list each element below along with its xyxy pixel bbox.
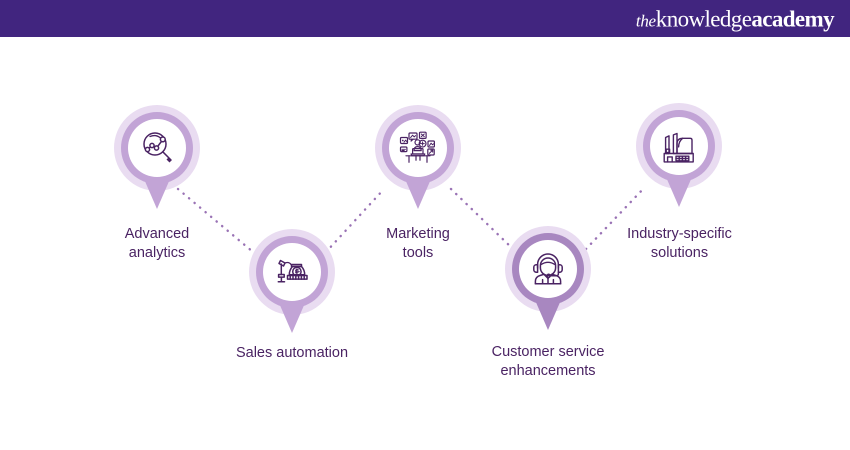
pin-inner — [389, 119, 447, 177]
factory-icon — [660, 127, 698, 165]
pin-inner — [263, 243, 321, 301]
pin-label-sales-automation: Sales automation — [212, 344, 372, 363]
brand-logo-the: the — [636, 11, 656, 30]
pin-label-marketing-tools: Marketing tools — [358, 225, 478, 263]
pin-customer-service-enhancements[interactable] — [505, 226, 591, 330]
header-bar: theknowledgeacademy — [0, 0, 850, 37]
pin-label-customer-service-enhancements: Customer service enhancements — [468, 343, 628, 381]
pin-inner — [128, 119, 186, 177]
headset-agent-icon — [529, 250, 567, 288]
pin-inner — [650, 117, 708, 175]
brand-logo-knowledge: knowledge — [656, 6, 752, 31]
process-journey-diagram: Advanced analytics — [0, 37, 850, 450]
pin-marketing-tools[interactable] — [375, 105, 461, 209]
pin-inner — [519, 240, 577, 298]
desk-laptop-marketing-icon — [398, 128, 438, 168]
magnifier-analytics-icon — [138, 129, 176, 167]
pin-label-industry-specific-solutions: Industry-specific solutions — [602, 225, 757, 263]
pin-label-advanced-analytics: Advanced analytics — [97, 225, 217, 263]
brand-logo: theknowledgeacademy — [636, 7, 834, 30]
pin-industry-specific-solutions[interactable] — [636, 103, 722, 207]
pin-advanced-analytics[interactable] — [114, 105, 200, 209]
pin-sales-automation[interactable] — [249, 229, 335, 333]
robot-arm-money-jar-icon — [273, 253, 311, 291]
brand-logo-academy: academy — [751, 6, 834, 31]
